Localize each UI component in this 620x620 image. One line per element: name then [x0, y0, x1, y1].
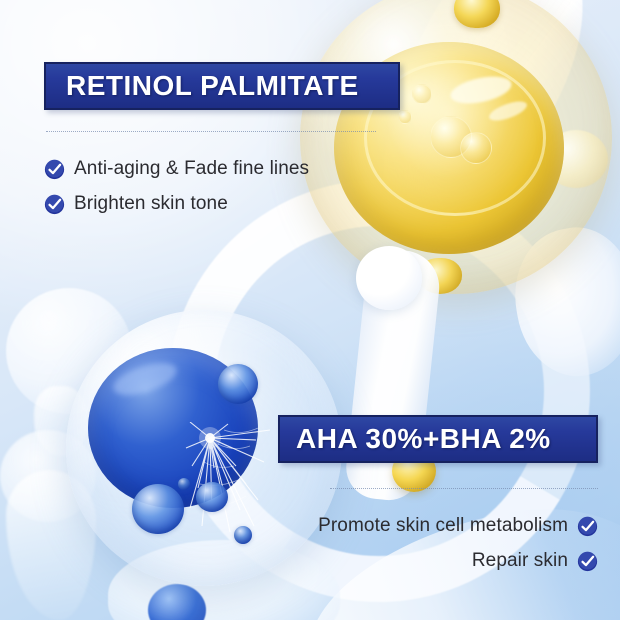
retinol-feature-list: Anti-aging & Fade fine lines Brighten sk… — [44, 158, 309, 215]
aha-bha-divider — [330, 488, 598, 489]
aha-bha-title-text: AHA 30%+BHA 2% — [296, 423, 551, 455]
aha-bha-title-banner: AHA 30%+BHA 2% — [278, 415, 598, 463]
list-item: Brighten skin tone — [44, 193, 228, 215]
blue-droplet — [178, 478, 190, 490]
aha-bha-feature-list: Promote skin cell metabolism Repair skin — [318, 515, 598, 572]
blue-droplet — [234, 526, 252, 544]
list-item: Repair skin — [472, 550, 598, 572]
white-column-knob — [356, 246, 422, 310]
check-circle-icon — [577, 551, 598, 572]
list-item-label: Brighten skin tone — [74, 193, 228, 215]
golden-bubble — [460, 132, 492, 164]
check-circle-icon — [577, 516, 598, 537]
infographic-poster: RETINOL PALMITATE Anti-aging & Fade fine… — [0, 0, 620, 620]
blue-droplet — [218, 364, 258, 404]
golden-serum-sphere — [300, 0, 612, 294]
retinol-divider — [46, 131, 376, 132]
golden-bubble — [412, 84, 432, 104]
list-item: Anti-aging & Fade fine lines — [44, 158, 309, 180]
blue-droplet — [196, 482, 228, 512]
golden-bubble — [398, 110, 412, 124]
list-item-label: Anti-aging & Fade fine lines — [74, 158, 309, 180]
check-circle-icon — [44, 159, 65, 180]
retinol-title-banner: RETINOL PALMITATE — [44, 62, 400, 110]
list-item-label: Repair skin — [472, 550, 568, 572]
blue-droplet — [132, 484, 184, 534]
list-item-label: Promote skin cell metabolism — [318, 515, 568, 537]
retinol-title-text: RETINOL PALMITATE — [66, 70, 359, 102]
list-item: Promote skin cell metabolism — [318, 515, 598, 537]
check-circle-icon — [44, 194, 65, 215]
